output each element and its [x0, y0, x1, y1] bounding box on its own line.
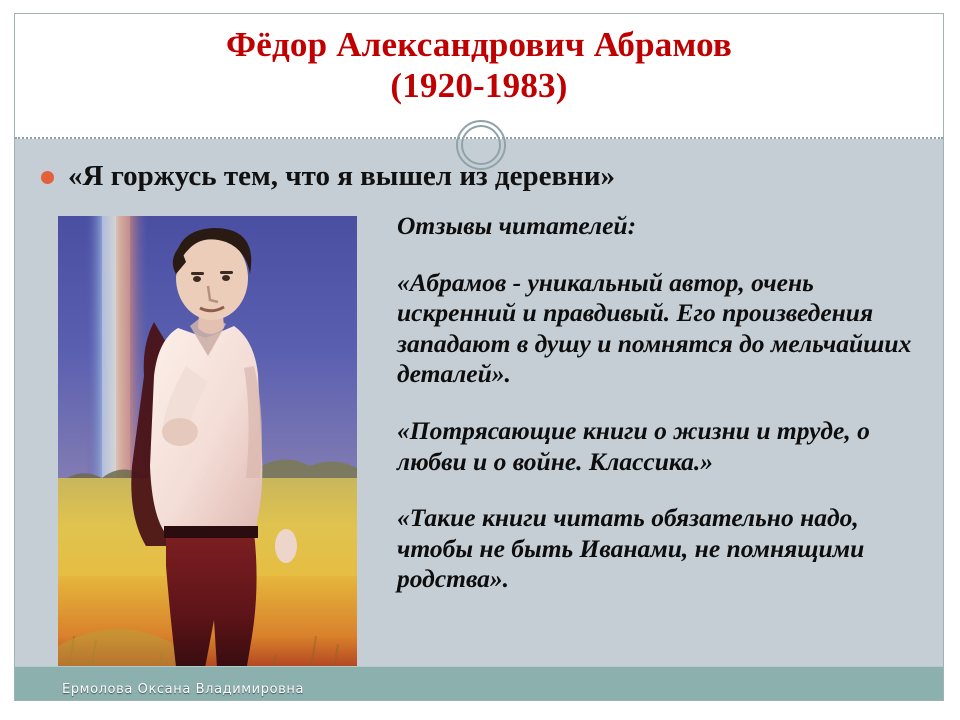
circle-ornament-icon	[456, 120, 506, 170]
bullet-headline-text: «Я горжусь тем, что я вышел из деревни»	[68, 161, 615, 193]
slide-body: «Я горжусь тем, что я вышел из деревни»	[15, 139, 943, 700]
bullet-dot-icon	[41, 171, 54, 184]
reviews-column: Отзывы читателей: «Абрамов - уникальный …	[397, 211, 931, 595]
review-quote-1: «Абрамов - уникальный автор, очень искре…	[397, 268, 931, 390]
review-quote-2: «Потрясающие книги о жизни и труде, о лю…	[397, 416, 931, 477]
portrait-photo: Ермолова Оксана Владимировна	[58, 216, 357, 701]
presentation-slide: Фёдор Александрович Абрамов (1920-1983) …	[14, 13, 944, 701]
photo-watermark: Ермолова Оксана Владимировна	[58, 682, 357, 697]
review-quote-3: «Такие книги читать обязательно надо, чт…	[397, 503, 931, 595]
page-title: Фёдор Александрович Абрамов (1920-1983)	[15, 24, 943, 107]
portrait-photo-image	[58, 216, 357, 701]
reviews-heading: Отзывы читателей:	[397, 211, 931, 242]
